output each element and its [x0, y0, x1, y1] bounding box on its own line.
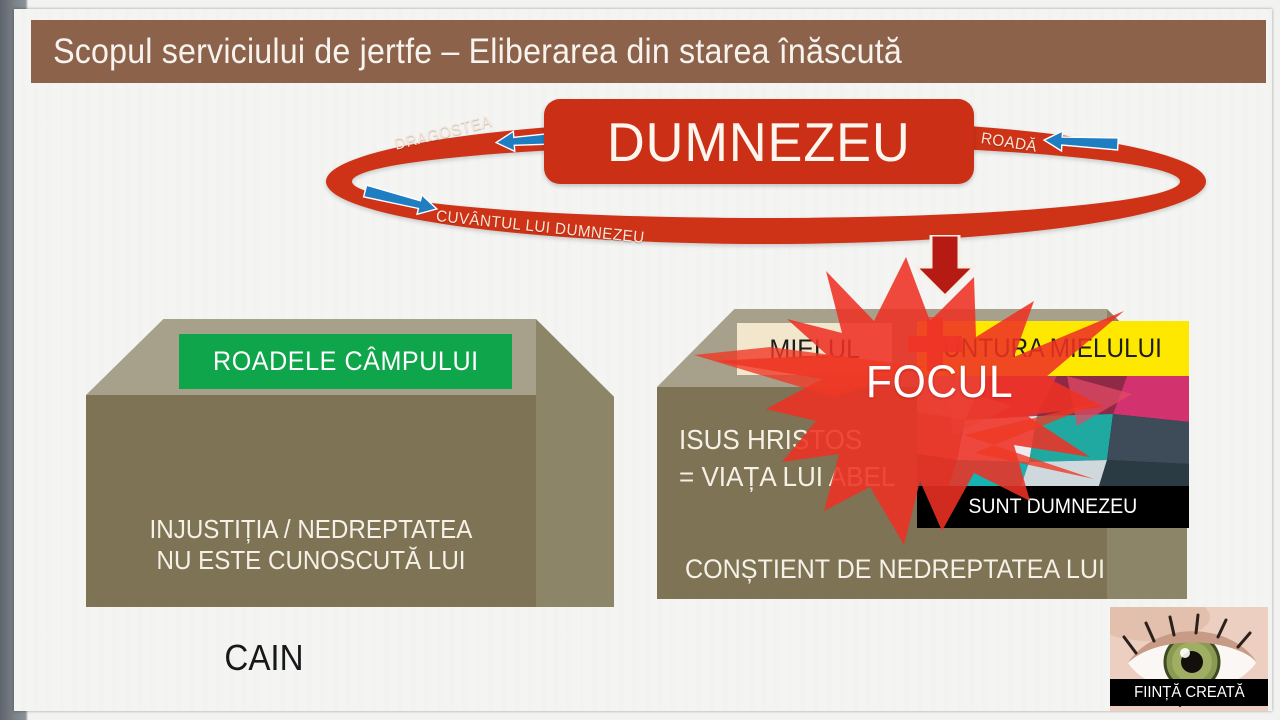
- mielul-label: MIELUL: [769, 334, 860, 365]
- cain-description-line1: INJUSTIȚIA / NEDREPTATEA: [102, 514, 521, 545]
- cain-caption: CAIN: [172, 637, 356, 679]
- cain-description: INJUSTIȚIA / NEDREPTATEA NU ESTE CUNOSCU…: [86, 514, 536, 576]
- slide-canvas: Scopul serviciului de jertfe – Eliberare…: [0, 0, 1280, 720]
- focul-label: FOCUL: [866, 356, 1013, 408]
- page-title: Scopul serviciului de jertfe – Eliberare…: [31, 32, 902, 72]
- arrow-down-icon: [914, 235, 976, 297]
- abel-awareness-text: CONȘTIENT DE NEDREPTATEA LUI: [685, 554, 1115, 585]
- dumnezeu-label: DUMNEZEU: [607, 110, 911, 174]
- arrow-left-roada-icon: [1041, 127, 1120, 157]
- roadele-campului-banner: ROADELE CÂMPULUI: [179, 334, 512, 389]
- roadele-campului-label: ROADELE CÂMPULUI: [213, 346, 479, 377]
- sunt-dumnezeu-label: SUNT DUMNEZEU: [969, 495, 1138, 519]
- fiinta-creata-banner: FIINȚĂ CREATĂ: [1110, 679, 1268, 706]
- cain-box-side-face: [536, 319, 614, 607]
- abel-awareness-label: CONȘTIENT DE NEDREPTATEA LUI: [685, 554, 1085, 585]
- fiinta-creata-label: FIINȚĂ CREATĂ: [1134, 684, 1245, 702]
- slide-content-area: Scopul serviciului de jertfe – Eliberare…: [14, 9, 1272, 711]
- cain-offering-box: ROADELE CÂMPULUI INJUSTIȚIA / NEDREPTATE…: [86, 319, 614, 609]
- slide-title-bar: Scopul serviciului de jertfe – Eliberare…: [31, 20, 1266, 83]
- sunt-dumnezeu-banner: SUNT DUMNEZEU: [917, 486, 1189, 528]
- cain-description-line2: NU ESTE CUNOSCUTĂ LUI: [102, 545, 521, 576]
- dumnezeu-plaque: DUMNEZEU: [544, 99, 974, 184]
